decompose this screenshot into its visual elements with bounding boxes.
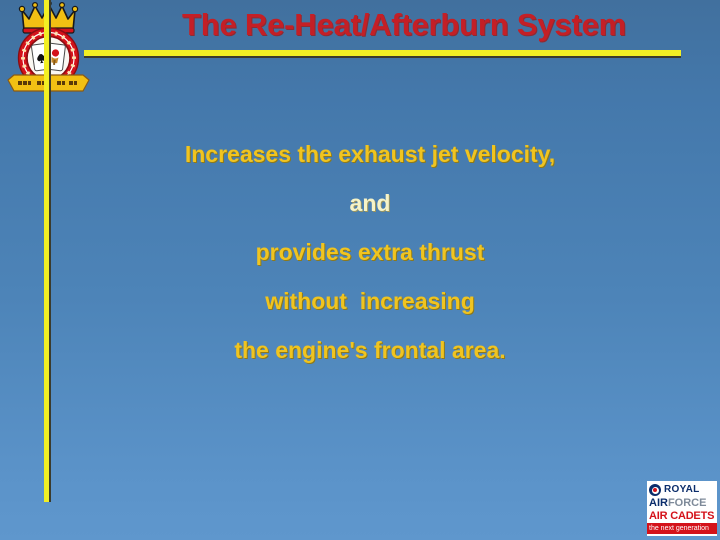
slide-title: The Re-Heat/Afterburn System — [104, 4, 704, 46]
logo-air-text: AIR — [649, 497, 668, 509]
logo-aircadets-text: AIR CADETS — [647, 510, 717, 523]
body-line: the engine's frontal area. — [90, 326, 650, 375]
body-line: and — [90, 179, 650, 228]
body-line: Increases the exhaust jet velocity, — [90, 130, 650, 179]
body-line: without increasing — [90, 277, 650, 326]
body-line: provides extra thrust — [90, 228, 650, 277]
logo-force-text: FORCE — [668, 497, 707, 509]
logo-royal-text: ROYAL — [664, 484, 700, 496]
presentation-slide: The Re-Heat/Afterburn System Increases t… — [0, 0, 720, 540]
raf-roundel-icon — [649, 484, 661, 496]
logo-airforce-row: AIRFORCE — [647, 497, 717, 510]
slide-body: Increases the exhaust jet velocity, and … — [90, 130, 650, 375]
logo-tagline-text: the next generation — [647, 523, 717, 534]
left-vertical-rule — [44, 0, 49, 502]
title-underline-rule — [84, 50, 681, 56]
logo-royal-row: ROYAL — [647, 481, 717, 497]
raf-air-cadets-logo: ROYAL AIRFORCE AIR CADETS the next gener… — [647, 481, 717, 536]
